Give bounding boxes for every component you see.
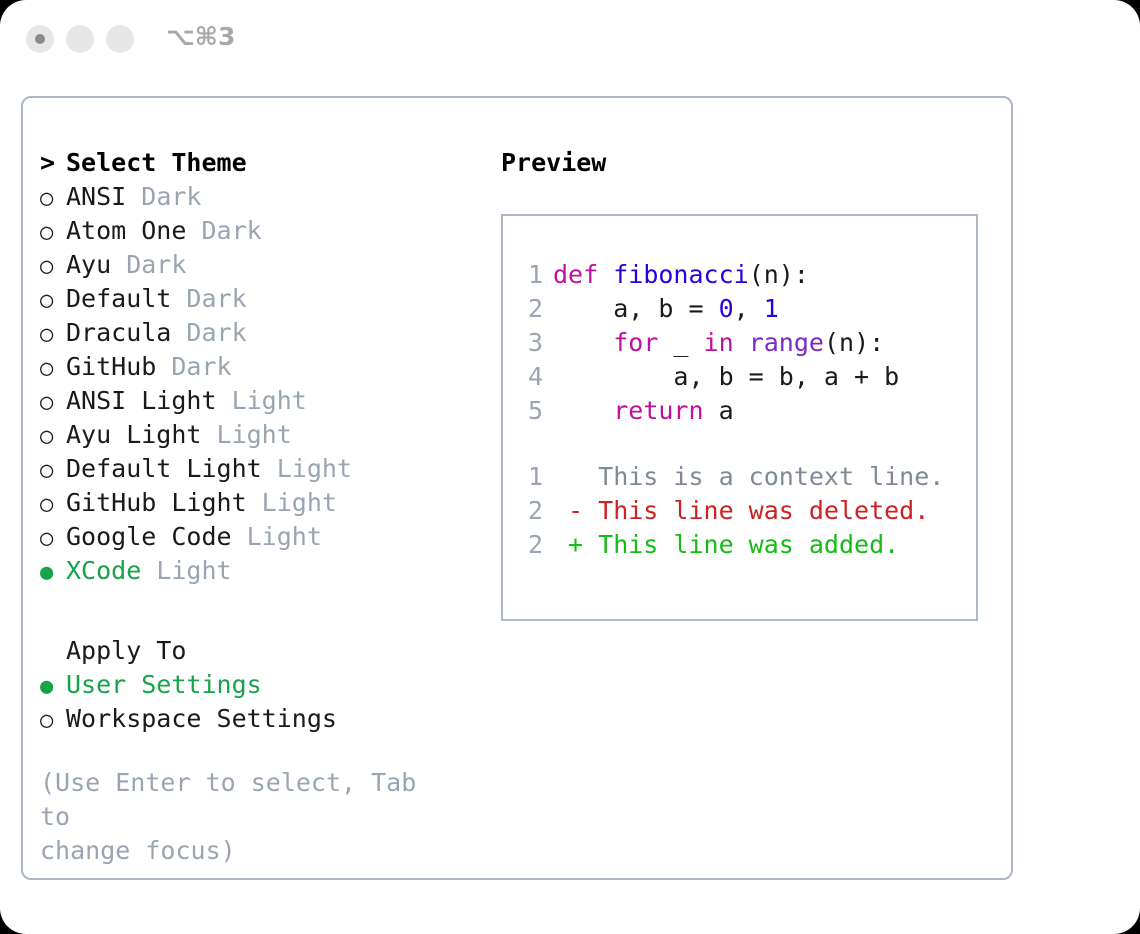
theme-option-variant: Light: [247, 488, 337, 517]
radio-selected-icon: ●: [40, 556, 66, 590]
theme-option-name: GitHub: [66, 352, 156, 381]
theme-option-name: Atom One: [66, 216, 186, 245]
apply-to-marker-spacer: ○: [40, 636, 66, 670]
theme-option-default[interactable]: ○Default Dark: [40, 282, 490, 316]
theme-selector-panel: >Select Theme ○ANSI Dark○Atom One Dark○A…: [21, 96, 1013, 880]
theme-option-variant: Light: [262, 454, 352, 483]
theme-option-name: ANSI Light: [66, 386, 217, 415]
theme-option-variant: Dark: [171, 284, 246, 313]
theme-option-variant: Light: [217, 386, 307, 415]
preview-heading: Preview: [501, 146, 991, 180]
theme-option-name: Google Code: [66, 522, 232, 551]
preview-column: Preview 1def fibonacci(n):2 a, b = 0, 13…: [501, 146, 991, 621]
apply-to-heading-label: Apply To: [66, 636, 186, 665]
line-number: 1: [517, 258, 543, 292]
radio-unselected-icon: ○: [40, 488, 66, 522]
code-token: _: [658, 328, 703, 357]
radio-unselected-icon: ○: [40, 420, 66, 454]
radio-unselected-icon: ○: [40, 704, 66, 738]
code-line: 3 for _ in range(n):: [503, 326, 976, 360]
theme-option-variant: Dark: [111, 250, 186, 279]
code-token: [553, 396, 613, 425]
code-token: fibonacci: [613, 260, 748, 289]
apply-to-option-label: User Settings: [66, 670, 262, 699]
code-token: a: [704, 396, 734, 425]
record-dot-inner: [35, 34, 45, 44]
preview-box: 1def fibonacci(n):2 a, b = 0, 13 for _ i…: [501, 214, 978, 621]
radio-unselected-icon: ○: [40, 250, 66, 284]
theme-option-variant: Light: [201, 420, 291, 449]
dot-3[interactable]: [106, 25, 134, 53]
theme-option-atom-one[interactable]: ○Atom One Dark: [40, 214, 490, 248]
code-token: a, b =: [553, 294, 719, 323]
code-line: 4 a, b = b, a + b: [503, 360, 976, 394]
keyboard-shortcut-label: ⌥⌘3: [166, 22, 235, 51]
caret-icon: >: [40, 146, 66, 180]
code-token: in: [704, 328, 734, 357]
theme-option-ansi-light[interactable]: ○ANSI Light Light: [40, 384, 490, 418]
theme-options-list: ○ANSI Dark○Atom One Dark○Ayu Dark○Defaul…: [40, 180, 490, 588]
theme-option-variant: Light: [232, 522, 322, 551]
theme-option-ayu[interactable]: ○Ayu Dark: [40, 248, 490, 282]
line-number: 3: [517, 326, 543, 360]
theme-option-variant: Dark: [126, 182, 201, 211]
radio-selected-icon: ●: [40, 670, 66, 704]
record-dot[interactable]: [26, 25, 54, 53]
theme-option-github[interactable]: ○GitHub Dark: [40, 350, 490, 384]
code-token: range: [749, 328, 824, 357]
apply-to-option-workspace-settings[interactable]: ○Workspace Settings: [40, 702, 490, 736]
diff-line: 2 - This line was deleted.: [503, 494, 976, 528]
apply-to-option-user-settings[interactable]: ●User Settings: [40, 668, 490, 702]
line-number: 2: [517, 528, 543, 562]
line-number: 4: [517, 360, 543, 394]
diff-line: 2 + This line was added.: [503, 528, 976, 562]
theme-option-variant: Dark: [156, 352, 231, 381]
code-token: [734, 328, 749, 357]
code-token: def: [553, 260, 598, 289]
app-window: ⌥⌘3 >Select Theme ○ANSI Dark○Atom One Da…: [0, 0, 1140, 934]
theme-option-variant: Dark: [186, 216, 261, 245]
line-number: 2: [517, 292, 543, 326]
theme-option-name: ANSI: [66, 182, 126, 211]
dot-2[interactable]: [66, 25, 94, 53]
radio-unselected-icon: ○: [40, 386, 66, 420]
code-token: - This line was deleted.: [553, 496, 929, 525]
radio-unselected-icon: ○: [40, 454, 66, 488]
code-line: 2 a, b = 0, 1: [503, 292, 976, 326]
theme-option-github-light[interactable]: ○GitHub Light Light: [40, 486, 490, 520]
line-number: 2: [517, 494, 543, 528]
code-token: (n):: [824, 328, 884, 357]
diff-line: 1 This is a context line.: [503, 460, 976, 494]
spacer-2: [40, 736, 490, 766]
theme-option-name: Default Light: [66, 454, 262, 483]
code-token: [598, 260, 613, 289]
code-token: for: [613, 328, 658, 357]
code-diff-separator: [503, 428, 976, 460]
theme-option-ansi[interactable]: ○ANSI Dark: [40, 180, 490, 214]
theme-option-name: Dracula: [66, 318, 171, 347]
theme-option-name: GitHub Light: [66, 488, 247, 517]
theme-option-google-code[interactable]: ○Google Code Light: [40, 520, 490, 554]
select-theme-heading-label: Select Theme: [66, 148, 247, 177]
code-token: 1: [764, 294, 779, 323]
code-token: return: [613, 396, 703, 425]
apply-to-options-list: ●User Settings○Workspace Settings: [40, 668, 490, 736]
title-bar: ⌥⌘3: [0, 0, 1140, 78]
code-token: ,: [734, 294, 764, 323]
theme-option-variant: Dark: [171, 318, 246, 347]
theme-option-dracula[interactable]: ○Dracula Dark: [40, 316, 490, 350]
theme-option-name: XCode: [66, 556, 141, 585]
code-sample: 1def fibonacci(n):2 a, b = 0, 13 for _ i…: [503, 258, 976, 428]
radio-unselected-icon: ○: [40, 216, 66, 250]
code-token: This is a context line.: [553, 462, 944, 491]
theme-option-default-light[interactable]: ○Default Light Light: [40, 452, 490, 486]
code-line: 5 return a: [503, 394, 976, 428]
code-token: [553, 328, 613, 357]
radio-unselected-icon: ○: [40, 284, 66, 318]
radio-unselected-icon: ○: [40, 352, 66, 386]
theme-option-name: Ayu: [66, 250, 111, 279]
line-number: 5: [517, 394, 543, 428]
code-token: 0: [719, 294, 734, 323]
code-token: + This line was added.: [553, 530, 899, 559]
radio-unselected-icon: ○: [40, 318, 66, 352]
theme-option-ayu-light[interactable]: ○Ayu Light Light: [40, 418, 490, 452]
diff-sample: 1 This is a context line.2 - This line w…: [503, 460, 976, 562]
theme-option-variant: Light: [141, 556, 231, 585]
select-theme-heading: >Select Theme: [40, 146, 490, 180]
line-number: 1: [517, 460, 543, 494]
code-token: a, b = b, a + b: [553, 362, 899, 391]
radio-unselected-icon: ○: [40, 182, 66, 216]
radio-unselected-icon: ○: [40, 522, 66, 556]
theme-option-name: Default: [66, 284, 171, 313]
theme-option-name: Ayu Light: [66, 420, 201, 449]
code-line: 1def fibonacci(n):: [503, 258, 976, 292]
apply-to-heading: ○Apply To: [40, 634, 490, 668]
code-token: (n):: [749, 260, 809, 289]
apply-to-option-label: Workspace Settings: [66, 704, 337, 733]
theme-option-xcode[interactable]: ●XCode Light: [40, 554, 490, 588]
theme-list-column: >Select Theme ○ANSI Dark○Atom One Dark○A…: [40, 146, 490, 868]
spacer-1: [40, 588, 490, 634]
keyboard-hint-text: (Use Enter to select, Tab to change focu…: [40, 766, 450, 868]
